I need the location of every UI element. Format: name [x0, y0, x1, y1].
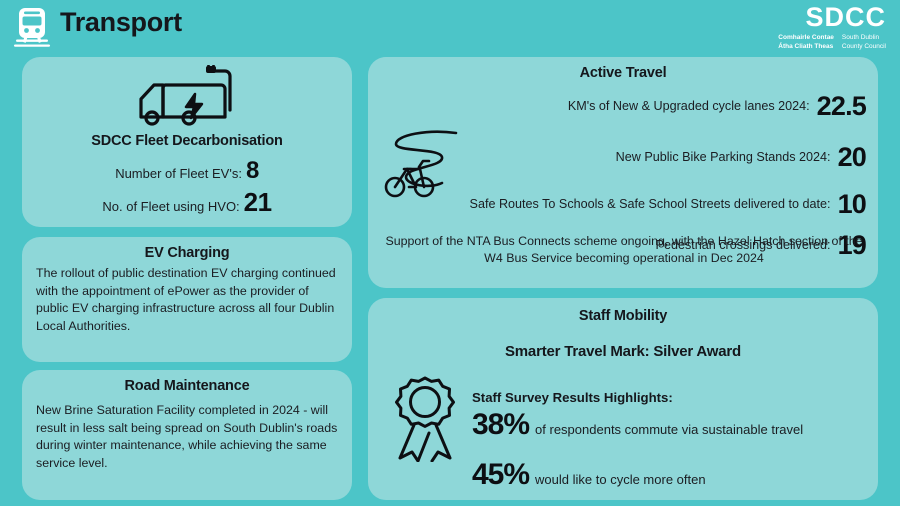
- survey-description: of respondents commute via sustainable t…: [535, 422, 803, 437]
- active-travel-title: Active Travel: [368, 65, 878, 81]
- fleet-card-title: SDCC Fleet Decarbonisation: [22, 133, 352, 149]
- survey-percentage: 45%: [472, 458, 529, 492]
- active-travel-note: Support of the NTA Bus Connects scheme o…: [384, 233, 864, 266]
- survey-percentage: 38%: [472, 408, 529, 442]
- active-travel-card: Active Travel KM's of New & Upgraded cyc…: [368, 57, 878, 288]
- award-ribbon-icon: [388, 374, 462, 467]
- smarter-travel-award: Smarter Travel Mark: Silver Award: [368, 343, 878, 360]
- stat-row-bike-stands: New Public Bike Parking Stands 2024: 20: [468, 142, 866, 173]
- bicycle-route-icon: [380, 125, 466, 206]
- stat-row-fleet-hvo: No. of Fleet using HVO: 21: [22, 187, 352, 218]
- survey-result-sustainable-travel: 38% of respondents commute via sustainab…: [472, 408, 866, 442]
- road-maintenance-title: Road Maintenance: [36, 378, 338, 394]
- train-icon: [10, 6, 54, 48]
- stat-row-cycle-lanes: KM's of New & Upgraded cycle lanes 2024:…: [468, 91, 866, 122]
- stat-label: No. of Fleet using HVO:: [102, 199, 239, 214]
- logo-wordmark: SDCC: [778, 4, 886, 31]
- survey-heading: Staff Survey Results Highlights:: [472, 390, 866, 405]
- stat-value: 21: [244, 187, 272, 218]
- infographic-page: Transport SDCC Comhairle Contae Átha Cli…: [0, 0, 900, 506]
- staff-mobility-title: Staff Mobility: [368, 308, 878, 324]
- survey-result-cycle-more: 45% would like to cycle more often: [472, 458, 866, 492]
- staff-mobility-card: Staff Mobility Smarter Travel Mark: Silv…: [368, 298, 878, 500]
- stat-row-safe-routes: Safe Routes To Schools & Safe School Str…: [468, 189, 866, 220]
- logo-irish-name: Comhairle Contae Átha Cliath Theas: [778, 34, 834, 52]
- stat-label: Number of Fleet EV's:: [115, 166, 242, 181]
- stat-label: New Public Bike Parking Stands 2024:: [616, 150, 831, 166]
- page-title: Transport: [60, 7, 182, 38]
- stat-value: 10: [838, 189, 866, 220]
- staff-survey-results: Staff Survey Results Highlights: 38% of …: [472, 390, 866, 492]
- stat-value: 20: [838, 142, 866, 173]
- logo-english-name: South Dublin County Council: [842, 34, 886, 52]
- ev-charging-title: EV Charging: [36, 245, 338, 261]
- stat-label: Safe Routes To Schools & Safe School Str…: [470, 197, 831, 213]
- stat-label: KM's of New & Upgraded cycle lanes 2024:: [568, 99, 810, 115]
- fleet-decarbonisation-card: SDCC Fleet Decarbonisation Number of Fle…: [22, 57, 352, 227]
- electric-van-icon: [127, 65, 247, 138]
- ev-charging-body: The rollout of public destination EV cha…: [36, 265, 338, 335]
- page-header: Transport SDCC Comhairle Contae Átha Cli…: [0, 0, 900, 52]
- stat-value: 8: [246, 157, 259, 185]
- stat-row-fleet-evs: Number of Fleet EV's: 8: [22, 157, 352, 185]
- sdcc-logo: SDCC Comhairle Contae Átha Cliath Theas …: [778, 4, 886, 52]
- stat-value: 22.5: [817, 91, 866, 122]
- survey-description: would like to cycle more often: [535, 472, 706, 487]
- road-maintenance-body: New Brine Saturation Facility completed …: [36, 402, 338, 472]
- road-maintenance-card: Road Maintenance New Brine Saturation Fa…: [22, 370, 352, 500]
- ev-charging-card: EV Charging The rollout of public destin…: [22, 237, 352, 362]
